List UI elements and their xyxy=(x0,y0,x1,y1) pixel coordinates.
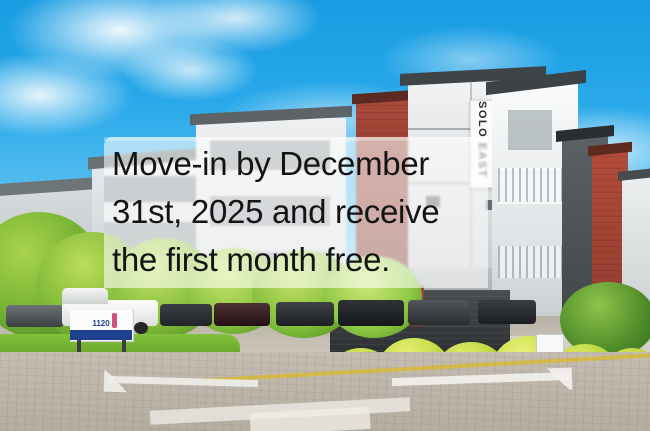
promo-banner-image: SOLO EAST 1120 xyxy=(0,0,650,431)
parked-car-4 xyxy=(276,302,334,326)
pickup-truck-wheel-rear xyxy=(134,322,148,334)
parked-car-5 xyxy=(338,300,404,326)
parked-car-7 xyxy=(478,300,536,324)
balcony-lower-railing xyxy=(498,246,572,278)
pickup-truck-cab xyxy=(62,288,108,304)
building-right-window xyxy=(508,110,552,150)
parked-car-3 xyxy=(214,303,270,326)
parked-car-6 xyxy=(408,300,470,325)
parked-car-1 xyxy=(6,305,64,327)
yard-sign-address: 1120 xyxy=(70,318,132,329)
yard-sign-banner xyxy=(70,330,132,340)
promo-headline: Move-in by December 31st, 2025 and recei… xyxy=(112,140,494,284)
yard-sign-graphic xyxy=(112,313,117,328)
road-arrow-right-head xyxy=(546,368,573,391)
road-arrow-left-head xyxy=(104,371,129,393)
balcony-upper-railing xyxy=(498,168,572,202)
parked-car-2 xyxy=(160,304,212,326)
